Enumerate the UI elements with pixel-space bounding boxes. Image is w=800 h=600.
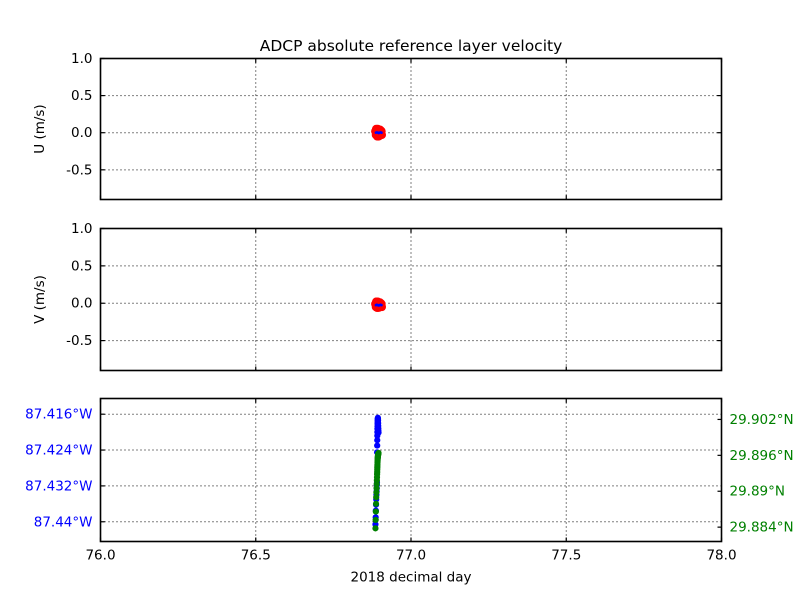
figure-title: ADCP absolute reference layer velocity xyxy=(260,37,563,55)
adcp-velocity-figure: ADCP absolute reference layer velocity1.… xyxy=(0,0,800,600)
v-velocity-panel: 1.00.50.0-0.5V (m/s) xyxy=(32,221,722,371)
u-velocity-panel: 1.00.50.0-0.5U (m/s) xyxy=(32,51,722,200)
y-tick-label: -0.5 xyxy=(66,162,92,178)
longitude-tick-label: 87.416°W xyxy=(25,407,92,423)
data-point xyxy=(375,450,381,456)
latitude-tick-label: 29.902°N xyxy=(730,412,794,428)
data-point xyxy=(375,429,381,435)
y-tick-label: 0.0 xyxy=(71,296,92,312)
plot-background xyxy=(101,59,722,200)
series-line-v-smoothed xyxy=(376,305,382,306)
longitude-tick-label: 87.424°W xyxy=(25,443,92,459)
x-tick-label: 77.5 xyxy=(551,548,581,564)
x-tick-label: 76.5 xyxy=(241,548,271,564)
latitude-tick-label: 29.884°N xyxy=(730,520,794,536)
y-tick-label: 0.5 xyxy=(71,88,92,104)
y-tick-label: -0.5 xyxy=(66,333,92,349)
x-axis-label: 2018 decimal day xyxy=(351,570,472,586)
position-panel: 87.416°W87.424°W87.432°W87.44°W29.902°N2… xyxy=(25,399,793,542)
title-text: ADCP absolute reference layer velocity xyxy=(260,37,563,55)
data-point xyxy=(372,525,378,531)
y-tick-label: 0.5 xyxy=(71,258,92,274)
x-tick-label: 78.0 xyxy=(706,548,736,564)
y-axis-label: V (m/s) xyxy=(32,275,48,324)
longitude-tick-label: 87.432°W xyxy=(25,478,92,494)
data-point xyxy=(373,517,379,523)
y-tick-label: 1.0 xyxy=(71,51,92,67)
x-axis: 76.076.577.077.578.02018 decimal day xyxy=(85,548,736,586)
latitude-tick-label: 29.896°N xyxy=(730,448,794,464)
y-tick-label: 0.0 xyxy=(71,125,92,141)
data-point xyxy=(373,508,379,514)
series-line-u-smoothed xyxy=(376,132,382,133)
longitude-tick-label: 87.44°W xyxy=(34,514,93,530)
data-point xyxy=(373,501,379,507)
data-point xyxy=(374,442,380,448)
x-tick-label: 77.0 xyxy=(396,548,426,564)
plot-canvas: ADCP absolute reference layer velocity1.… xyxy=(0,0,800,600)
y-axis-label: U (m/s) xyxy=(32,104,48,153)
x-tick-label: 76.0 xyxy=(85,548,115,564)
plot-background xyxy=(101,399,722,542)
latitude-tick-label: 29.89°N xyxy=(730,484,786,500)
y-tick-label: 1.0 xyxy=(71,221,92,237)
